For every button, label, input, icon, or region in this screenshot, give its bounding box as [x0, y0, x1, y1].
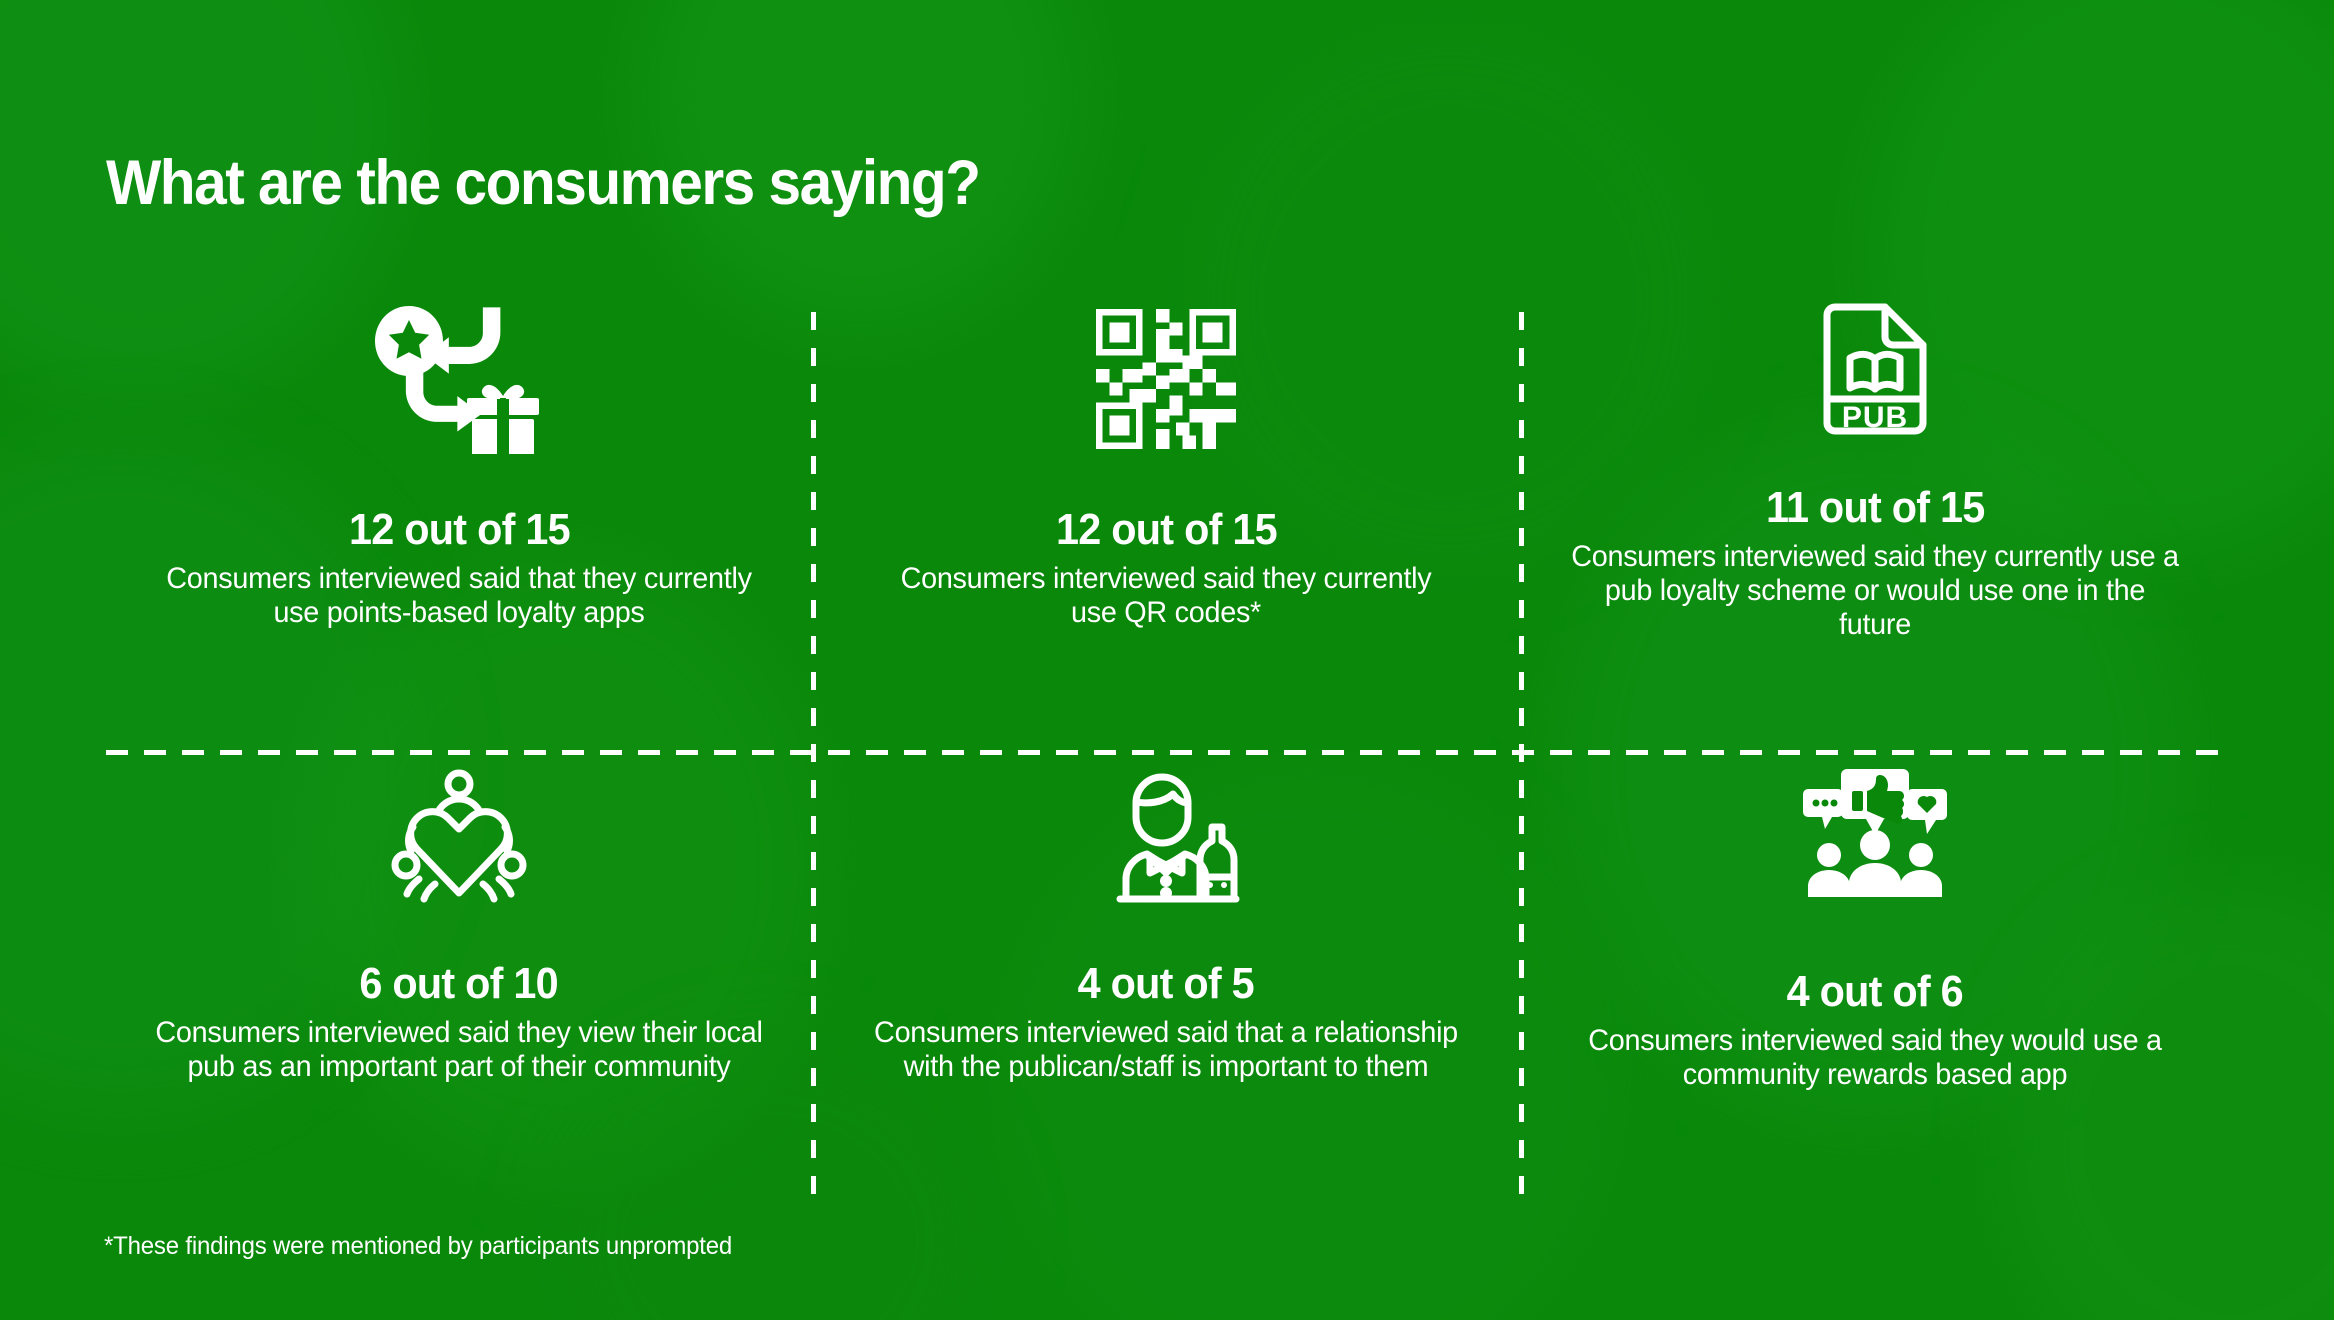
stat-number: 11 out of 15 — [1766, 484, 1985, 532]
stat-number: 6 out of 10 — [360, 960, 559, 1008]
stat-description: Consumers interviewed said they currentl… — [878, 562, 1454, 630]
page-title: What are the consumers saying? — [106, 150, 980, 216]
stat-card-qr-codes: 12 out of 15 Consumers interviewed said … — [812, 312, 1520, 754]
community-heart-people-icon — [389, 762, 529, 912]
stat-card-community-rewards-app: 4 out of 6 Consumers interviewed said th… — [1520, 754, 2230, 1196]
footnote: *These findings were mentioned by partic… — [104, 1232, 732, 1261]
pub-file-label: PUB — [1842, 401, 1908, 434]
stat-description: Consumers interviewed said they view the… — [147, 1016, 771, 1084]
stat-card-pub-loyalty-scheme: PUB 11 out of 15 Consumers interviewed s… — [1520, 312, 2230, 754]
qr-code-icon — [1096, 304, 1236, 454]
stat-description: Consumers interviewed said they would us… — [1558, 1024, 2192, 1092]
pub-book-file-icon: PUB — [1819, 294, 1931, 444]
stat-description: Consumers interviewed said they currentl… — [1568, 540, 2182, 642]
loyalty-points-gift-icon — [371, 304, 547, 454]
stat-card-publican-relationship: 4 out of 5 Consumers interviewed said th… — [812, 754, 1520, 1196]
stat-card-local-pub-community: 6 out of 10 Consumers interviewed said t… — [106, 754, 812, 1196]
stat-card-loyalty-apps: 12 out of 15 Consumers interviewed said … — [106, 312, 812, 754]
stat-number: 4 out of 6 — [1787, 968, 1963, 1016]
horizontal-divider — [106, 750, 2232, 755]
stat-description: Consumers interviewed said that a relati… — [864, 1016, 1469, 1084]
stat-description: Consumers interviewed said that they cur… — [142, 562, 776, 630]
bartender-publican-icon — [1092, 762, 1240, 912]
social-feedback-people-icon — [1802, 758, 1948, 908]
stat-number: 12 out of 15 — [1056, 506, 1277, 554]
stat-number: 4 out of 5 — [1078, 960, 1254, 1008]
stat-number: 12 out of 15 — [349, 506, 570, 554]
